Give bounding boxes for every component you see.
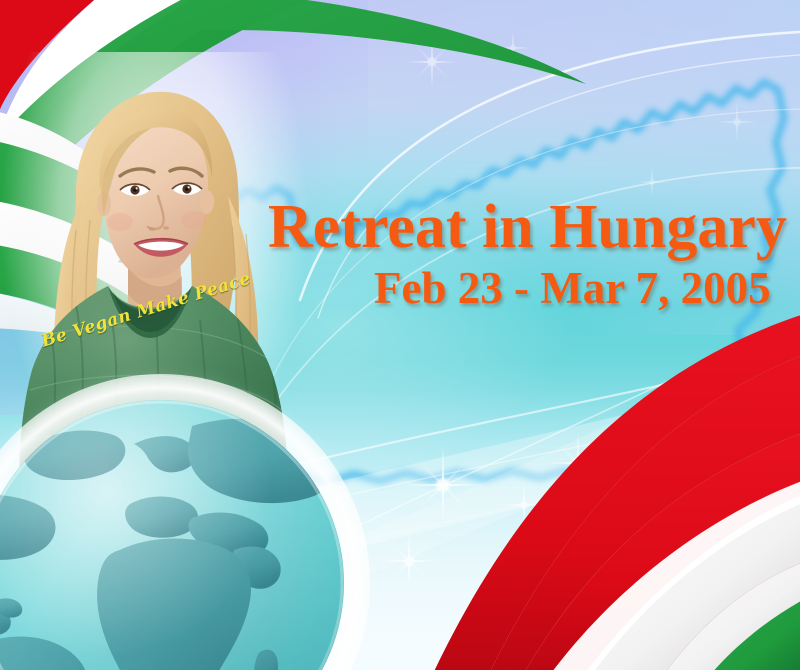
event-date-line: Feb 23 - Mar 7, 2005 — [268, 265, 788, 312]
poster-canvas: Be Vegan Make Peace — [0, 0, 800, 670]
headline-block: Retreat in Hungary Feb 23 - Mar 7, 2005 — [268, 196, 788, 312]
page-title: Retreat in Hungary — [268, 196, 788, 259]
globe-sphere — [0, 400, 344, 670]
ear-right — [200, 190, 214, 214]
earth-globe — [0, 400, 344, 670]
